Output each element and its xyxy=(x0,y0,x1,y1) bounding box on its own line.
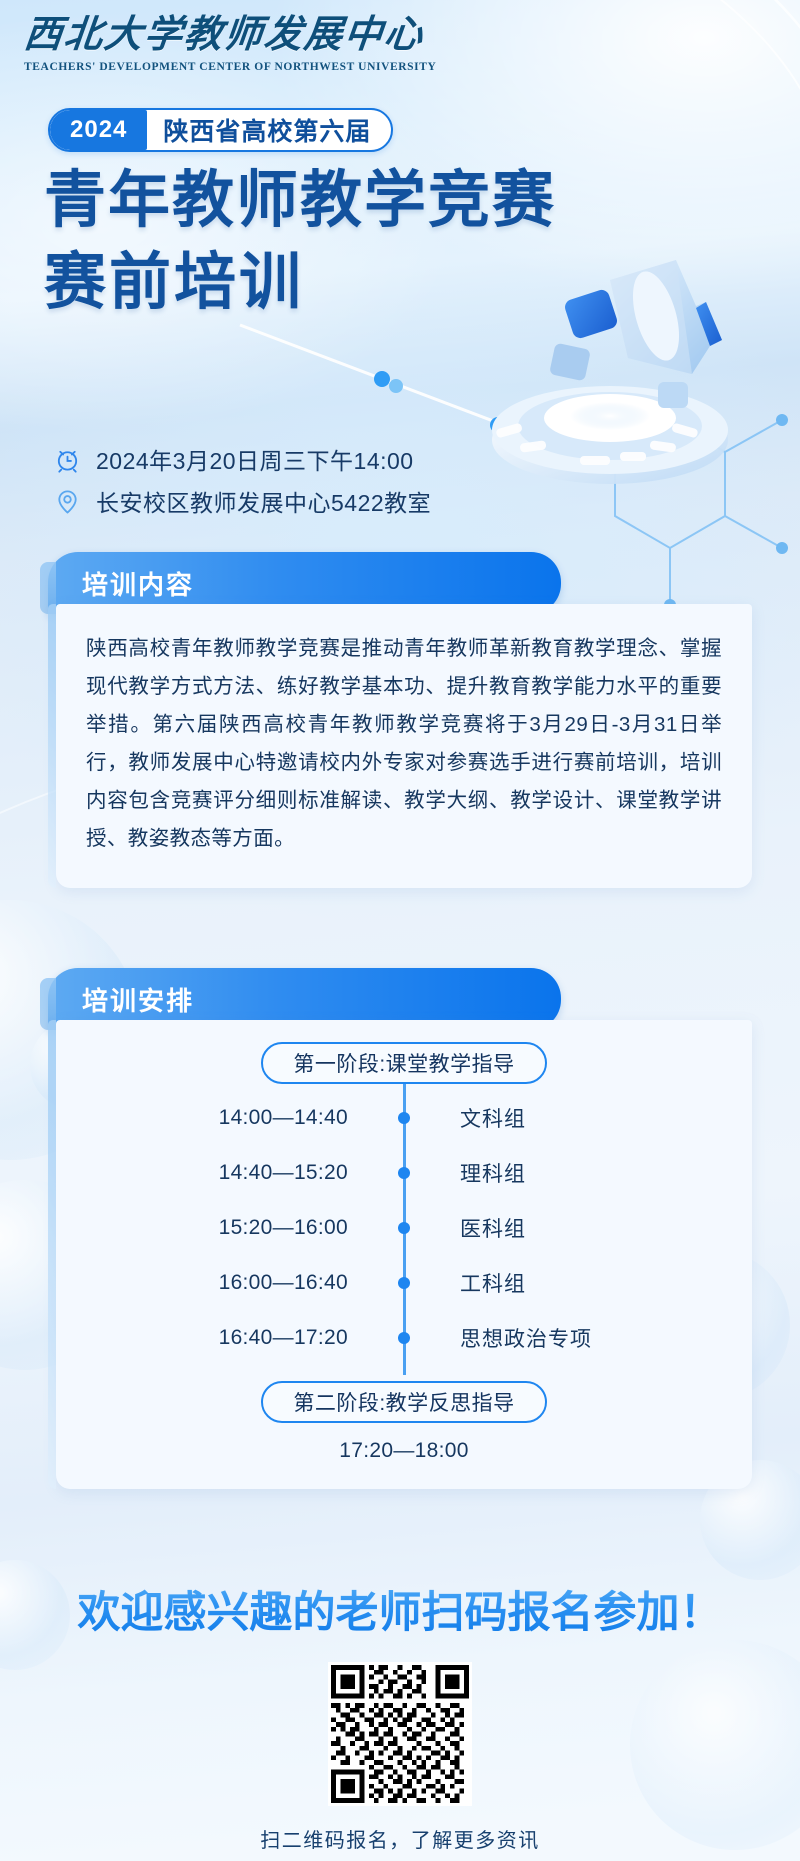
edition-badge: 2024 陕西省高校第六届 xyxy=(48,108,393,152)
timeline-row: 14:00—14:40 文科组 xyxy=(56,1090,752,1145)
training-content-body: 陕西高校青年教师教学竞赛是推动青年教师革新教育教学理念、掌握现代教学方式方法、练… xyxy=(56,604,752,888)
location-pin-icon xyxy=(50,486,84,516)
event-time-row: 2024年3月20日周三下午14:00 xyxy=(50,438,431,480)
event-place-row: 长安校区教师发展中心5422教室 xyxy=(50,480,431,522)
timeline-row: 15:20—16:00 医科组 xyxy=(56,1200,752,1255)
organization-logo: 西北大学教师发展中心 TEACHERS' DEVELOPMENT CENTER … xyxy=(24,14,444,73)
badge-label: 陕西省高校第六届 xyxy=(147,110,391,150)
call-to-action-banner: 欢迎感兴趣的老师扫码报名参加！ xyxy=(0,1578,800,1640)
timeline-rows: 14:00—14:40 文科组 14:40—15:20 理科组 15:20—16… xyxy=(56,1084,752,1369)
timeline-group: 医科组 xyxy=(404,1213,752,1243)
event-meta: 2024年3月20日周三下午14:00 长安校区教师发展中心5422教室 xyxy=(50,438,431,522)
stage-2-time: 17:20—18:00 xyxy=(56,1439,752,1463)
megaphone-podium-illustration xyxy=(460,250,760,500)
qr-section: 扫二维码报名，了解更多资讯 xyxy=(0,1662,800,1853)
timeline-dot-icon xyxy=(398,1167,410,1179)
training-schedule-heading-text: 培训安排 xyxy=(82,981,194,1018)
poster-canvas: 西北大学教师发展中心 TEACHERS' DEVELOPMENT CENTER … xyxy=(0,0,800,1861)
qr-code-image[interactable] xyxy=(328,1662,472,1806)
timeline-time: 14:40—15:20 xyxy=(56,1161,404,1185)
timeline-group: 理科组 xyxy=(404,1158,752,1188)
timeline-dot-icon xyxy=(398,1112,410,1124)
stage-2-label: 第二阶段:教学反思指导 xyxy=(261,1381,547,1423)
timeline-row: 16:40—17:20 思想政治专项 xyxy=(56,1310,752,1365)
training-schedule-body: 第一阶段:课堂教学指导 14:00—14:40 文科组 14:40—15:20 … xyxy=(56,1020,752,1489)
training-content-card: 培训内容 陕西高校青年教师教学竞赛是推动青年教师革新教育教学理念、掌握现代教学方… xyxy=(48,552,752,888)
logo-english-name: TEACHERS' DEVELOPMENT CENTER OF NORTHWES… xyxy=(24,61,444,73)
timeline-dot-icon xyxy=(398,1222,410,1234)
timeline-time: 16:40—17:20 xyxy=(56,1326,404,1350)
page-title-line2: 赛前培训 xyxy=(44,252,304,314)
timeline-dot-icon xyxy=(398,1277,410,1289)
timeline-group: 文科组 xyxy=(404,1103,752,1133)
event-place-text: 长安校区教师发展中心5422教室 xyxy=(96,484,431,518)
timeline-group: 工科组 xyxy=(404,1268,752,1298)
timeline-row: 14:40—15:20 理科组 xyxy=(56,1145,752,1200)
stage-1-label: 第一阶段:课堂教学指导 xyxy=(261,1042,547,1084)
timeline-time: 16:00—16:40 xyxy=(56,1271,404,1295)
training-content-paragraph: 陕西高校青年教师教学竞赛是推动青年教师革新教育教学理念、掌握现代教学方式方法、练… xyxy=(56,604,752,888)
timeline-row: 16:00—16:40 工科组 xyxy=(56,1255,752,1310)
timeline-time: 14:00—14:40 xyxy=(56,1106,404,1130)
event-time-text: 2024年3月20日周三下午14:00 xyxy=(96,442,414,476)
timeline-time: 15:20—16:00 xyxy=(56,1216,404,1240)
page-title-line1: 青年教师教学竞赛 xyxy=(44,170,556,232)
logo-chinese-name: 西北大学教师发展中心 xyxy=(22,14,447,58)
alarm-clock-icon xyxy=(50,444,84,474)
timeline-dot-icon xyxy=(398,1332,410,1344)
badge-year: 2024 xyxy=(50,110,147,150)
qr-caption: 扫二维码报名，了解更多资讯 xyxy=(0,1824,800,1853)
training-content-heading-text: 培训内容 xyxy=(82,565,194,602)
training-schedule-card: 培训安排 第一阶段:课堂教学指导 14:00—14:40 文科组 14:40—1… xyxy=(48,968,752,1489)
schedule-timeline: 第一阶段:课堂教学指导 14:00—14:40 文科组 14:40—15:20 … xyxy=(56,1020,752,1489)
timeline-group: 思想政治专项 xyxy=(404,1323,752,1353)
